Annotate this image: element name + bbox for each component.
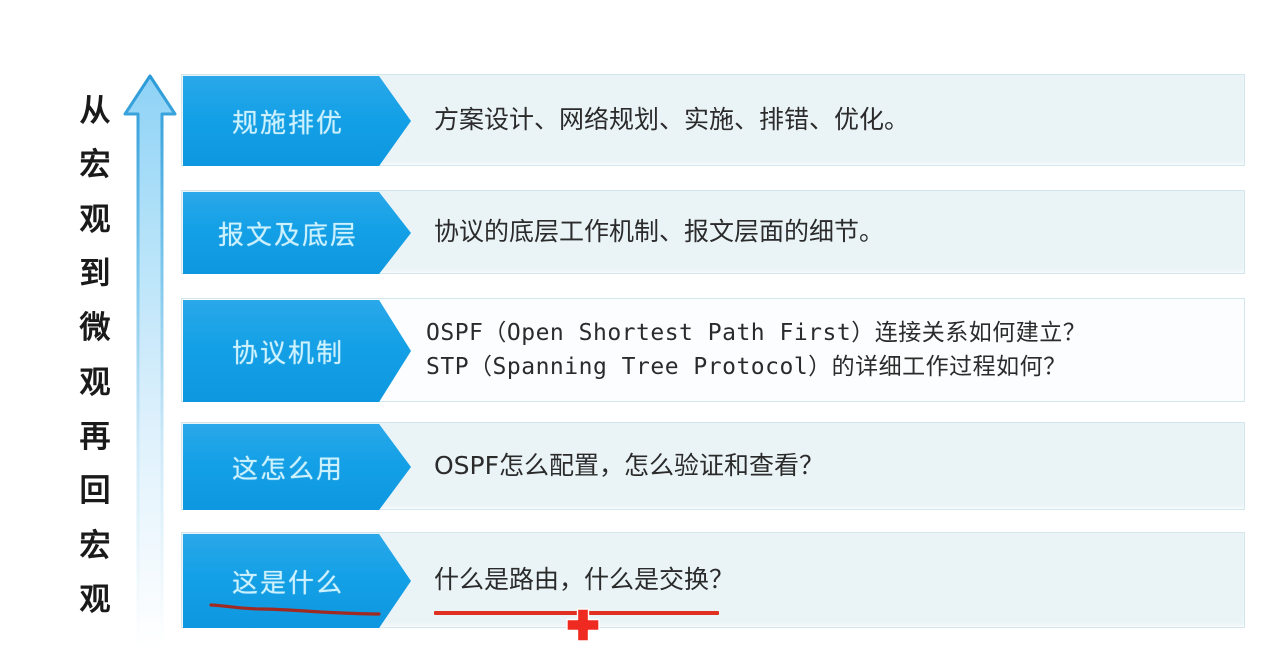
caption-char: 宏	[80, 150, 111, 181]
row-protocol-mechanism[interactable]: 协议机制 OSPF（Open Shortest Path First）连接关系如…	[181, 298, 1245, 402]
caption-char: 再	[80, 422, 111, 453]
row-label-chevron[interactable]: 协议机制	[183, 300, 411, 402]
row-body: OSPF（Open Shortest Path First）连接关系如何建立？ …	[426, 299, 1230, 401]
body-line: OSPF（Open Shortest Path First）连接关系如何建立？	[426, 316, 1230, 351]
caption-char: 从	[80, 96, 111, 127]
caption-char: 宏	[80, 531, 111, 562]
rows-container: 规施排优 方案设计、网络规划、实施、排错、优化。 报文及底层 协议的底层工作机制…	[181, 74, 1245, 636]
body-line: 什么是路由，什么是交换？	[434, 561, 1230, 599]
row-label-text: 这怎么用	[232, 449, 344, 486]
caption-char: 微	[80, 313, 111, 344]
row-how-to-use[interactable]: 这怎么用 OSPF怎么配置，怎么验证和查看？	[181, 422, 1245, 510]
row-implementation[interactable]: 规施排优 方案设计、网络规划、实施、排错、优化。	[181, 74, 1245, 166]
row-label-chevron[interactable]: 规施排优	[183, 76, 411, 166]
vertical-caption: 从 宏 观 到 微 观 再 回 宏 观	[66, 96, 124, 616]
row-packet-underlay[interactable]: 报文及底层 协议的底层工作机制、报文层面的细节。	[181, 190, 1245, 274]
row-body: 协议的底层工作机制、报文层面的细节。	[434, 191, 1230, 273]
body-line: 方案设计、网络规划、实施、排错、优化。	[434, 101, 1230, 139]
up-arrow-icon	[122, 72, 178, 647]
body-line: STP（Spanning Tree Protocol）的详细工作过程如何？	[426, 350, 1230, 385]
body-line: 协议的底层工作机制、报文层面的细节。	[434, 213, 1230, 251]
row-label-chevron[interactable]: 报文及底层	[183, 192, 411, 274]
row-label-text: 协议机制	[232, 333, 344, 370]
row-body: 方案设计、网络规划、实施、排错、优化。	[434, 75, 1230, 165]
row-body: OSPF怎么配置，怎么验证和查看？	[434, 423, 1230, 509]
red-plus-marker-icon	[566, 608, 600, 642]
red-squiggle-annotation-icon	[209, 602, 381, 616]
row-label-chevron[interactable]: 这怎么用	[183, 424, 411, 510]
row-label-text: 规施排优	[232, 103, 344, 140]
caption-char: 观	[80, 585, 111, 616]
row-label-text: 这是什么	[232, 563, 344, 600]
slide-canvas: 从 宏 观 到 微 观 再 回 宏 观	[0, 0, 1264, 649]
caption-char: 观	[80, 368, 111, 399]
caption-char: 回	[80, 476, 111, 507]
row-label-chevron[interactable]: 这是什么	[183, 534, 411, 628]
row-label-text: 报文及底层	[218, 215, 358, 252]
body-line: OSPF怎么配置，怎么验证和查看？	[434, 447, 1230, 485]
row-what-is-this[interactable]: 这是什么 什么是路由，什么是交换？	[181, 532, 1245, 628]
caption-char: 到	[80, 259, 111, 290]
caption-char: 观	[80, 205, 111, 236]
